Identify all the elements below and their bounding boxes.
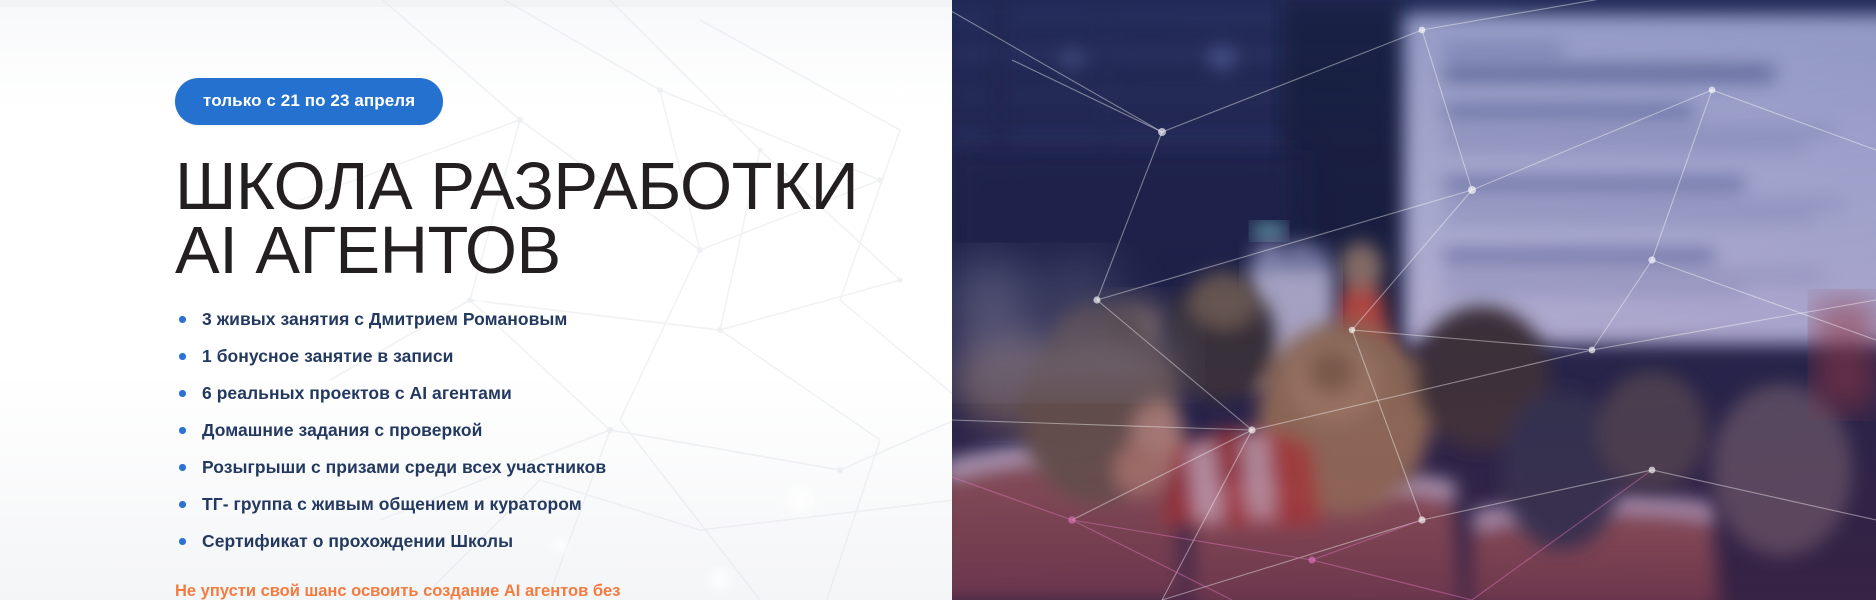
bullet-dot-icon [179,464,186,471]
bullet-dot-icon [179,353,186,360]
conference-photo [952,0,1876,600]
conference-photo-illustration [952,0,1876,600]
list-item-label: Сертификат о прохождении Школы [202,531,513,551]
list-item-label: Розыгрыши с призами среди всех участнико… [202,457,606,477]
list-item: ТГ- группа с живым общением и куратором [175,494,935,514]
list-item-label: 3 живых занятия с Дмитрием Романовым [202,309,567,329]
bullet-dot-icon [179,390,186,397]
list-item: Розыгрыши с призами среди всех участнико… [175,457,935,477]
list-item-label: 1 бонусное занятие в записи [202,346,453,366]
list-item-label: Домашние задания с проверкой [202,420,482,440]
bullet-dot-icon [179,501,186,508]
list-item: 6 реальных проектов с AI агентами [175,383,935,403]
hero-banner: только с 21 по 23 апреля ШКОЛА РАЗРАБОТК… [0,0,1876,600]
page-title: ШКОЛА РАЗРАБОТКИ AI АГЕНТОВ [175,155,935,283]
cta-note: Не упусти свой шанс освоить создание AI … [175,579,645,600]
bullet-dot-icon [179,427,186,434]
features-list: 3 живых занятия с Дмитрием Романовым 1 б… [175,309,935,568]
left-content-panel: только с 21 по 23 апреля ШКОЛА РАЗРАБОТК… [0,0,955,600]
list-item-label: ТГ- группа с живым общением и куратором [202,494,582,514]
list-item-label: 6 реальных проектов с AI агентами [202,383,512,403]
list-item: Сертификат о прохождении Школы [175,531,935,551]
hero-content: только с 21 по 23 апреля ШКОЛА РАЗРАБОТК… [175,0,935,600]
bullet-dot-icon [179,316,186,323]
bullet-dot-icon [179,538,186,545]
list-item: 3 живых занятия с Дмитрием Романовым [175,309,935,329]
list-item: Домашние задания с проверкой [175,420,935,440]
list-item: 1 бонусное занятие в записи [175,346,935,366]
promo-date-badge: только с 21 по 23 апреля [175,78,443,125]
